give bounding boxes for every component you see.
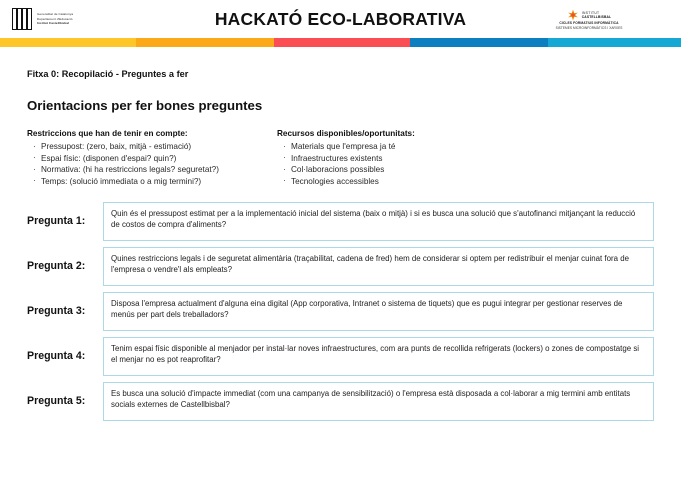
list-item: Infraestructures existents xyxy=(291,153,577,165)
section-title: Orientacions per fer bones preguntes xyxy=(27,98,654,113)
question-label-2: Pregunta 2: xyxy=(27,260,103,272)
question-row-5: Pregunta 5: Es busca una solució d'impac… xyxy=(27,381,654,421)
guidelines-columns: Restriccions que han de tenir en compte:… xyxy=(27,129,654,187)
question-input-1[interactable]: Quin és el pressupost estimat per a la i… xyxy=(103,202,654,241)
question-label-1: Pregunta 1: xyxy=(27,215,103,227)
bar-segment-yellow xyxy=(0,38,136,47)
list-item: Tecnologies accessibles xyxy=(291,176,577,188)
restrictions-heading: Restriccions que han de tenir en compte: xyxy=(27,129,277,138)
list-item: Temps: (solució immediata o a mig termin… xyxy=(41,176,277,188)
bar-segment-blue xyxy=(410,38,548,47)
list-item: Espai físic: (disponen d'espai? quin?) xyxy=(41,153,277,165)
list-item: Pressupost: (zero, baix, mitjà - estimac… xyxy=(41,141,277,153)
decorative-color-bar xyxy=(0,38,681,47)
generalitat-line-3: Institut Castellbisbal xyxy=(37,21,73,25)
question-row-2: Pregunta 2: Quines restriccions legals i… xyxy=(27,246,654,286)
bar-segment-orange xyxy=(136,38,274,47)
document-body: Fitxa 0: Recopilació - Preguntes a fer O… xyxy=(0,69,681,421)
resources-list: Materials que l'empresa ja té Infraestru… xyxy=(277,141,577,187)
question-input-2[interactable]: Quines restriccions legals i de segureta… xyxy=(103,247,654,286)
question-row-3: Pregunta 3: Disposa l'empresa actualment… xyxy=(27,291,654,331)
question-input-3[interactable]: Disposa l'empresa actualment d'alguna ei… xyxy=(103,292,654,331)
question-input-5[interactable]: Es busca una solució d'impacte immediat … xyxy=(103,382,654,421)
bar-segment-cyan xyxy=(548,38,681,47)
institut-line-2: CASTELLBISBAL xyxy=(582,15,611,19)
institut-castellbisbal-logo: INSTITUT CASTELLBISBAL CICLES FORMATIUS … xyxy=(509,9,669,30)
question-input-4[interactable]: Tenim espai físic disponible al menjador… xyxy=(103,337,654,376)
restrictions-list: Pressupost: (zero, baix, mitjà - estimac… xyxy=(27,141,277,187)
question-label-4: Pregunta 4: xyxy=(27,350,103,362)
fitxa-title: Fitxa 0: Recopilació - Preguntes a fer xyxy=(27,69,654,79)
page-title: HACKATÓ ECO-LABORATIVA xyxy=(172,9,509,30)
generalitat-logo-text: Generalitat de Catalunya Departament d'E… xyxy=(37,12,73,25)
question-label-5: Pregunta 5: xyxy=(27,395,103,407)
institut-line-4: SISTEMES MICROINFORMÀTICS I XARXES xyxy=(556,26,623,30)
generalitat-crest-icon xyxy=(12,8,32,30)
question-row-1: Pregunta 1: Quin és el pressupost estima… xyxy=(27,201,654,241)
question-row-4: Pregunta 4: Tenim espai físic disponible… xyxy=(27,336,654,376)
institut-line-3: CICLES FORMATIUS INFORMÀTICA xyxy=(559,21,618,25)
list-item: Normativa: (hi ha restriccions legals? s… xyxy=(41,164,277,176)
resources-column: Recursos disponibles/oportunitats: Mater… xyxy=(277,129,577,187)
questions-section: Pregunta 1: Quin és el pressupost estima… xyxy=(27,201,654,421)
list-item: Col·laboracions possibles xyxy=(291,164,577,176)
resources-heading: Recursos disponibles/oportunitats: xyxy=(277,129,577,138)
star-icon xyxy=(567,9,579,21)
generalitat-de-catalunya-logo: Generalitat de Catalunya Departament d'E… xyxy=(12,8,172,30)
page-header: Generalitat de Catalunya Departament d'E… xyxy=(0,0,681,38)
list-item: Materials que l'empresa ja té xyxy=(291,141,577,153)
bar-segment-red xyxy=(274,38,410,47)
institut-name-text: INSTITUT CASTELLBISBAL xyxy=(582,11,611,19)
restrictions-column: Restriccions que han de tenir en compte:… xyxy=(27,129,277,187)
question-label-3: Pregunta 3: xyxy=(27,305,103,317)
